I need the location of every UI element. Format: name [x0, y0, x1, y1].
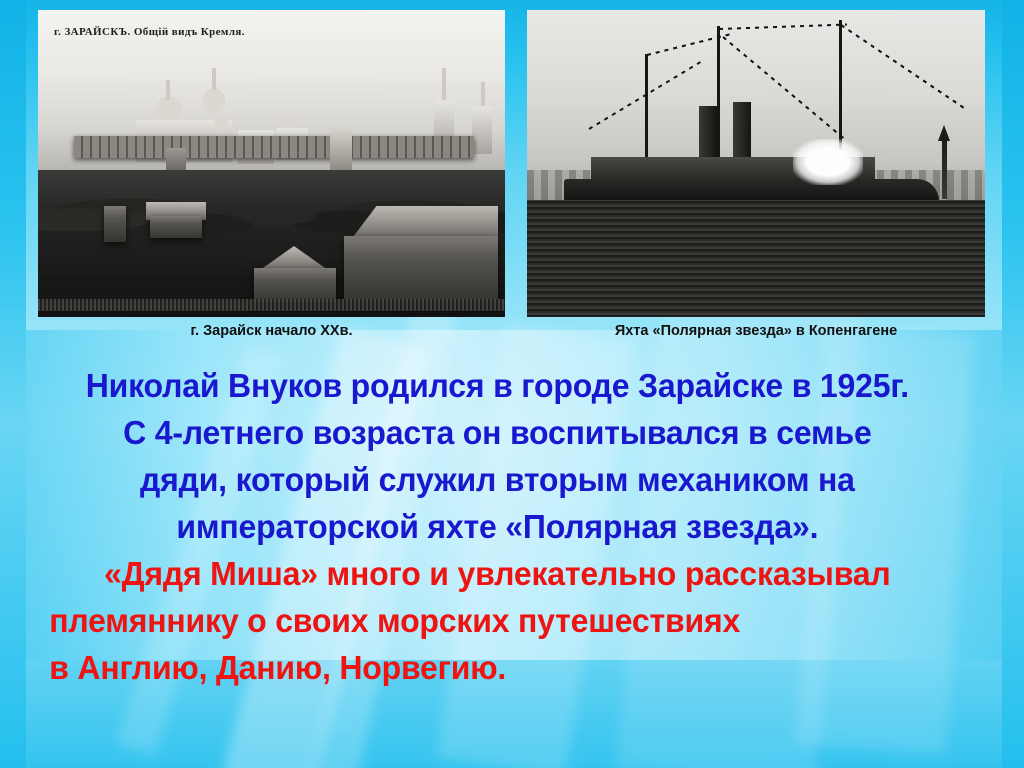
body-line-2: С 4-летнего возраста он воспитывался в с… [24, 409, 971, 456]
church-dome-icon [203, 88, 225, 114]
church-spire-icon [166, 80, 170, 100]
bell-tower-spire-icon [442, 68, 446, 102]
caption-left-photo: г. Зарайск начало XXв. [38, 323, 505, 339]
zaraysk-kremlin-photo: г. ЗАРАЙСКЪ. Общій видъ Кремля. [38, 10, 505, 317]
church-dome-icon [214, 114, 228, 130]
harbour-water [527, 200, 985, 317]
small-house [150, 216, 202, 238]
slide-canvas: г. ЗАРАЙСКЪ. Общій видъ Кремля. г. Зарай… [0, 0, 1024, 768]
fence [38, 299, 505, 311]
body-line-4: императорской яхте «Полярная звезда». [24, 503, 971, 550]
body-line-3: дяди, который служил вторым механиком на [24, 456, 971, 503]
postcard-printed-caption: г. ЗАРАЙСКЪ. Общій видъ Кремля. [54, 26, 245, 38]
body-line-6: племяннику о своих морских путешествиях [24, 597, 971, 644]
slide-body-text: Николай Внуков родился в городе Зарайске… [0, 362, 1024, 691]
steam-plume [793, 139, 863, 185]
kremlin-wall [74, 136, 474, 158]
church-spire-icon [212, 68, 216, 90]
body-line-1: Николай Внуков родился в городе Зарайске… [24, 362, 971, 409]
large-house [344, 236, 498, 300]
church-steeple-icon [942, 139, 947, 199]
body-line-7: в Англию, Данию, Норвегию. [24, 644, 971, 691]
kremlin-building [472, 106, 492, 154]
church-spire-icon [481, 82, 485, 108]
caption-right-photo: Яхта «Полярная звезда» в Копенгагене [527, 323, 985, 339]
small-house [104, 206, 126, 242]
polar-star-yacht-photo [527, 10, 985, 317]
small-house [254, 268, 336, 302]
body-line-5: «Дядя Миша» много и увлекательно рассказ… [24, 550, 971, 597]
